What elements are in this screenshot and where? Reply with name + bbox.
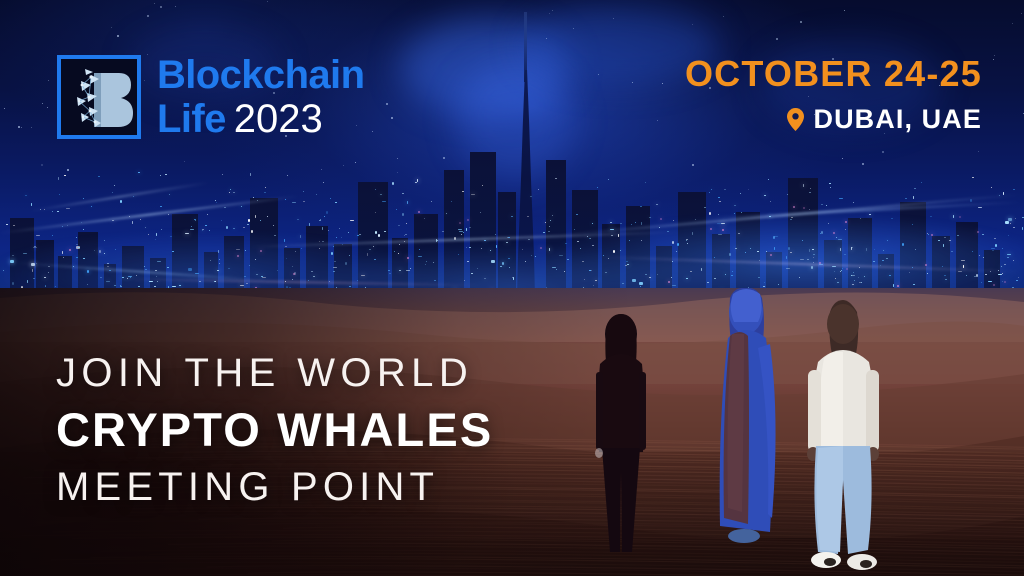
event-location-row: DUBAI, UAE — [685, 106, 982, 133]
brand-wordmark: Blockchain Life2023 — [157, 55, 364, 139]
headline-line-2: CRYPTO WHALES — [56, 403, 493, 457]
headline-line-1: JOIN THE WORLD — [56, 352, 493, 395]
brand-line-1: Blockchain — [157, 55, 364, 95]
burj-khalifa-spire — [524, 12, 527, 82]
location-pin-icon — [787, 108, 804, 131]
person-traditional-robe — [700, 288, 790, 562]
person-white-shirt — [800, 300, 886, 576]
event-details: OCTOBER 24-25 DUBAI, UAE — [685, 56, 982, 133]
road-light-trails — [0, 150, 1024, 300]
blockchain-life-b-mark — [57, 55, 141, 139]
brand-line-2: Life — [157, 97, 226, 141]
event-banner: Blockchain Life2023 OCTOBER 24-25 DUBAI,… — [0, 0, 1024, 576]
event-location: DUBAI, UAE — [813, 106, 982, 133]
sky-cloud — [400, 20, 570, 115]
person-dark-suit — [586, 312, 656, 562]
headline-line-3: MEETING POINT — [56, 466, 493, 509]
headline-block: JOIN THE WORLD CRYPTO WHALES MEETING POI… — [56, 352, 493, 509]
brand-year: 2023 — [234, 97, 323, 141]
event-dates: OCTOBER 24-25 — [685, 56, 982, 92]
brand-logo[interactable]: Blockchain Life2023 — [57, 55, 364, 139]
